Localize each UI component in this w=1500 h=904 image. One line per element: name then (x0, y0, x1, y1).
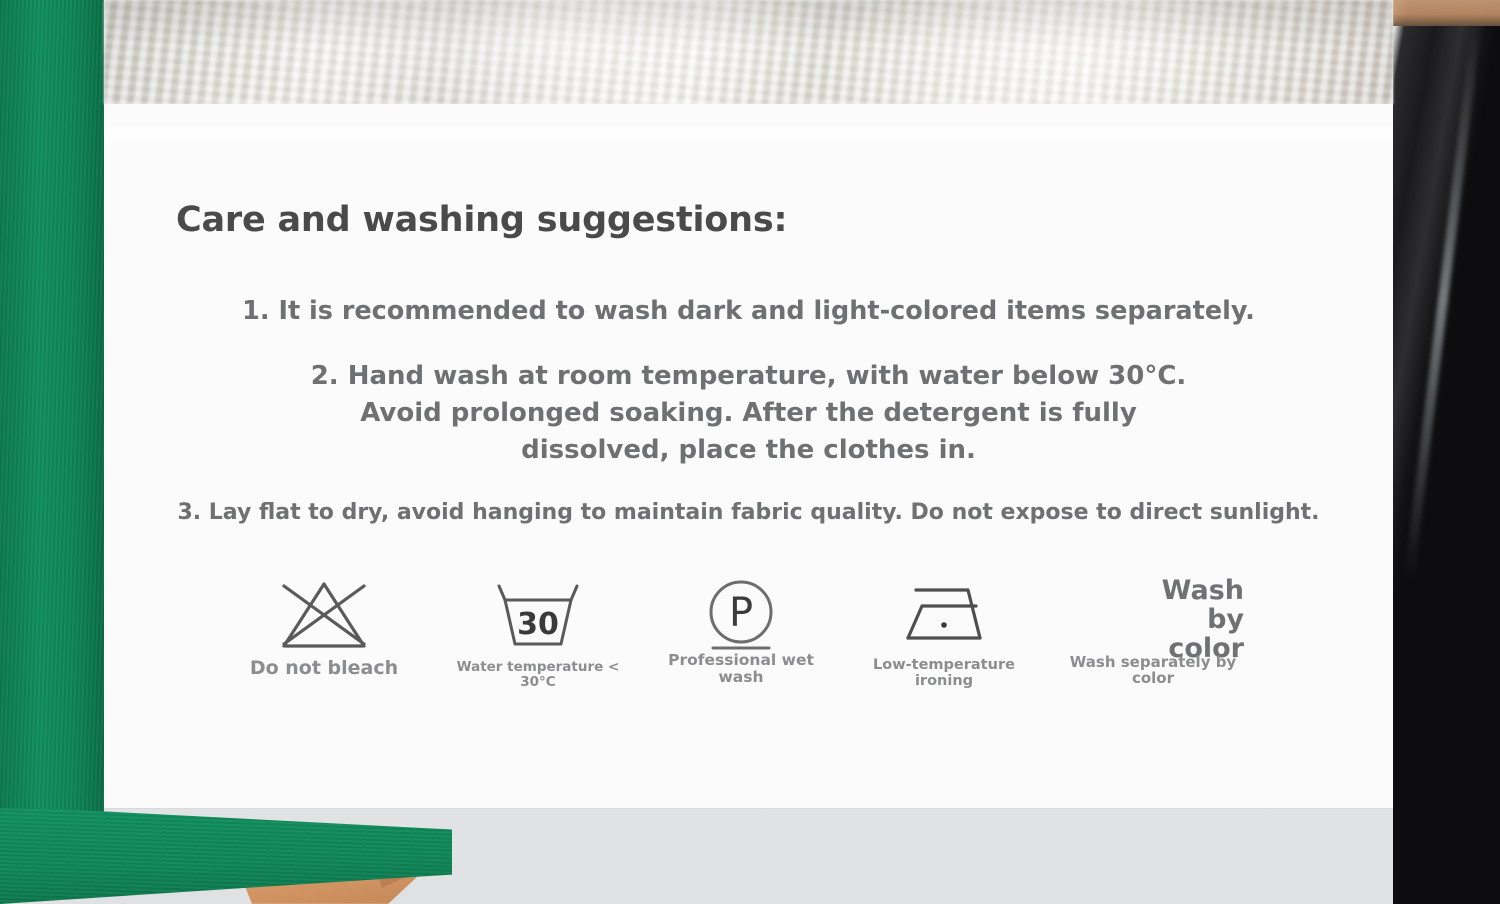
professional-wet-wash-p-icon: P (638, 576, 844, 654)
wash-by-color-word-b: by (1044, 605, 1244, 634)
care-symbol-caption: Water temperature < 30°C (438, 660, 638, 689)
care-symbol-professional-wet-wash: P Professional wet wash (638, 576, 844, 685)
care-instructions-card: Care and washing suggestions: 1. It is r… (104, 104, 1393, 808)
instruction-line-2: 2. Hand wash at room temperature, with w… (104, 358, 1393, 469)
care-symbol-caption-b: color (1132, 669, 1174, 687)
care-symbol-do-not-bleach: Do not bleach (210, 576, 438, 679)
card-sheen (104, 124, 1393, 146)
care-symbol-caption-a: Professional wet (668, 651, 814, 669)
care-symbol-caption: Professional wet wash (638, 652, 844, 685)
care-symbol-caption-a: Low-temperature (873, 657, 1015, 673)
care-symbol-caption-b: wash (718, 668, 763, 686)
background-tan-garment (1393, 0, 1500, 26)
instruction-line-2a: 2. Hand wash at room temperature, with w… (104, 358, 1393, 395)
care-symbols-row: Do not bleach 30 Water temperatu (164, 576, 1314, 689)
do-not-bleach-icon (210, 576, 438, 654)
wash-tub-30-icon: 30 (438, 576, 638, 654)
care-symbol-caption-b: ironing (915, 673, 973, 689)
instruction-line-2c: dissolved, place the clothes in. (104, 432, 1393, 469)
background-dark-trousers (1393, 0, 1500, 904)
background-green-sleeve-left (0, 0, 104, 838)
care-symbol-caption: Do not bleach (210, 658, 438, 679)
page-title: Care and washing suggestions: (176, 200, 787, 240)
instruction-line-3: 3. Lay flat to dry, avoid hanging to mai… (104, 500, 1393, 525)
wash-tub-temperature-value: 30 (517, 607, 559, 642)
screenshot-stage: Care and washing suggestions: 1. It is r… (0, 0, 1500, 904)
product-photo-strip (104, 0, 1393, 104)
instruction-line-2b: Avoid prolonged soaking. After the deter… (104, 395, 1393, 432)
care-symbol-wash-by-color: Wash by color Wash separately by color (1044, 576, 1262, 686)
care-symbol-low-temperature-ironing: Low-temperature ironing (844, 576, 1044, 689)
iron-one-dot-icon (844, 576, 1044, 654)
care-symbol-caption: Wash separately by color (1044, 654, 1262, 686)
wash-by-color-word-a: Wash (1044, 576, 1244, 605)
care-symbol-caption: Low-temperature ironing (844, 658, 1044, 689)
wash-by-color-words: Wash by color (1044, 576, 1262, 663)
wet-wash-letter: P (729, 590, 753, 636)
wash-by-color-text: Wash by color (1044, 576, 1262, 660)
care-symbol-water-temperature: 30 Water temperature < 30°C (438, 576, 638, 689)
instruction-line-1: 1. It is recommended to wash dark and li… (104, 296, 1393, 326)
